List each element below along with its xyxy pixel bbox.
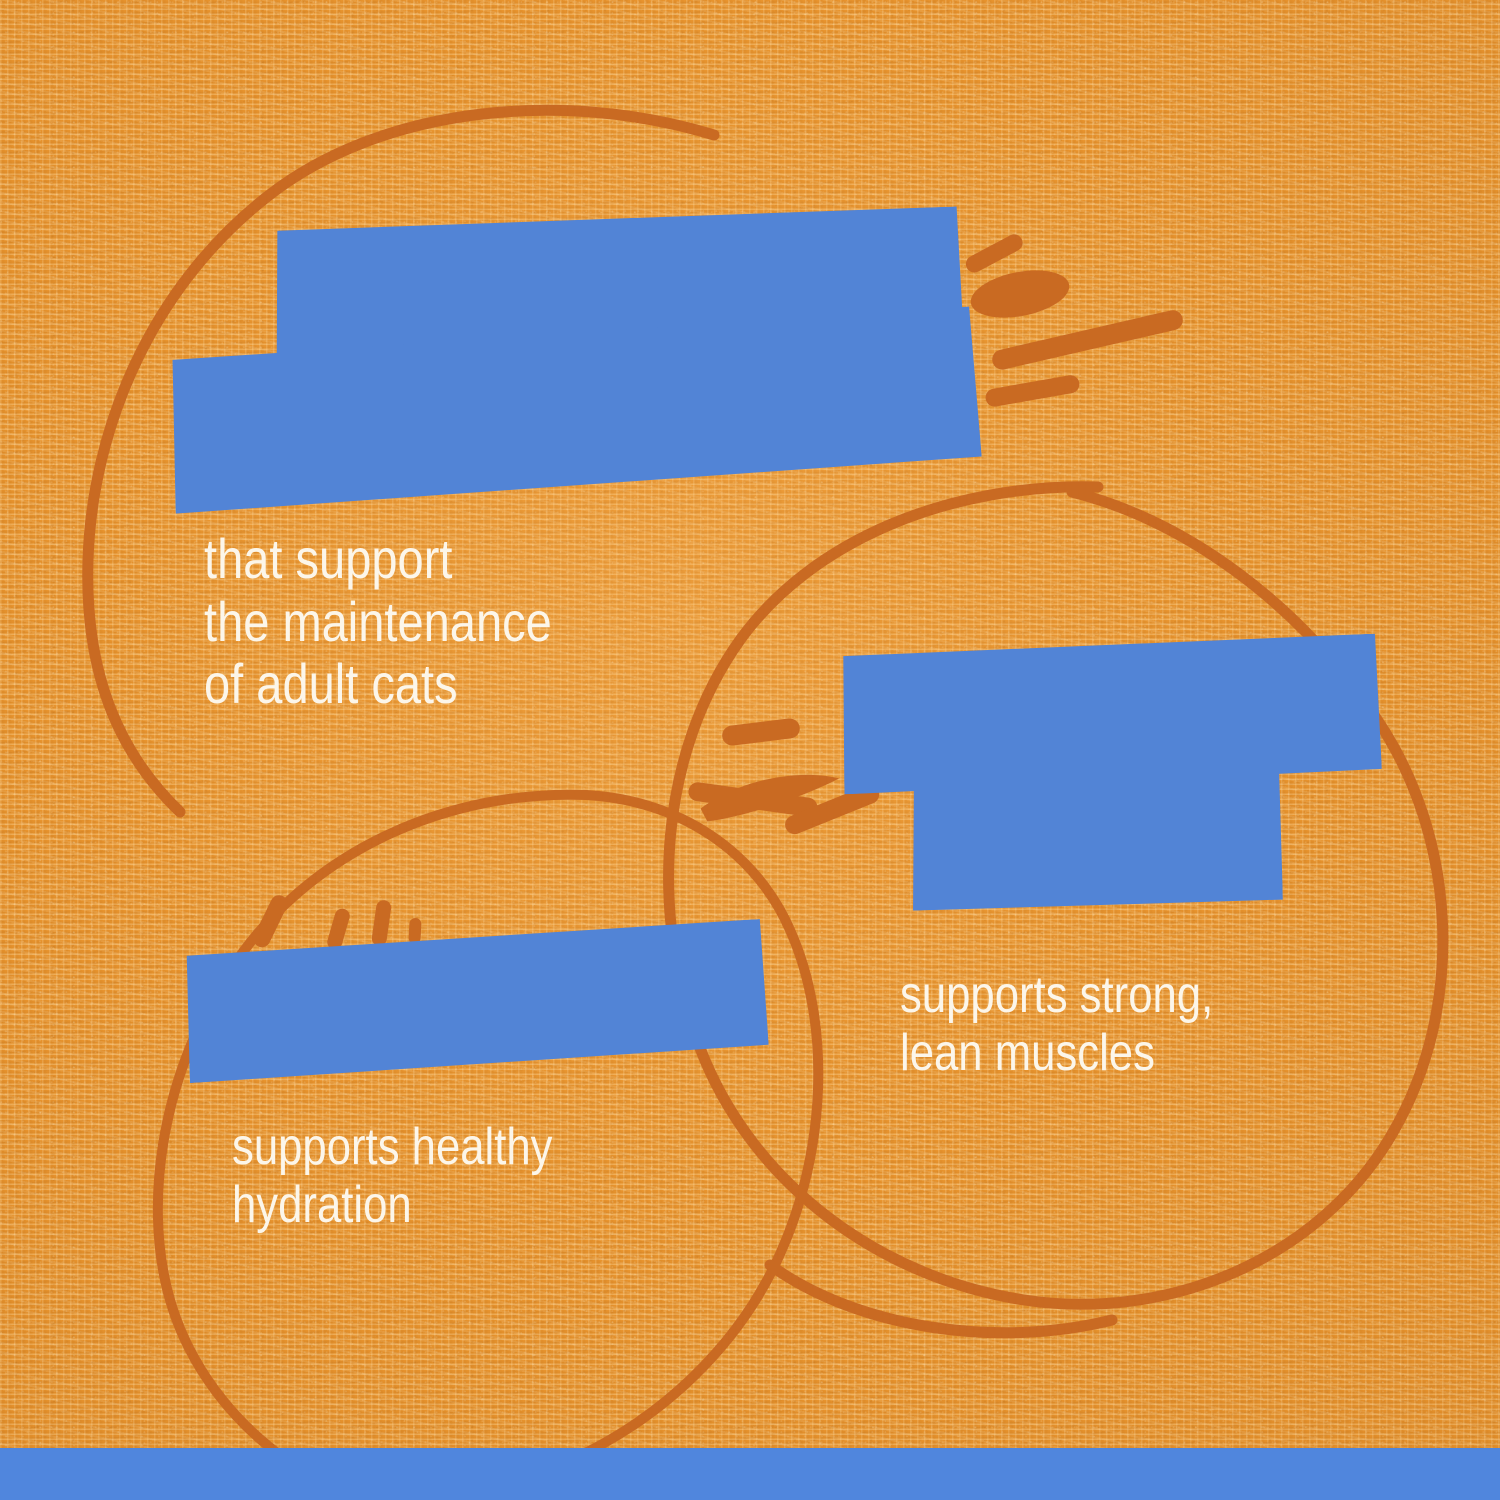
highlight-band-protein <box>911 759 1283 910</box>
body-high-quality-protein: supports strong, lean muscles <box>900 966 1213 1082</box>
bottom-accent-bar <box>0 1448 1500 1500</box>
product-feature-panel: includes all essential nutrients that su… <box>0 0 1500 1500</box>
body-essential-nutrients: that support the maintenance of adult ca… <box>204 528 552 716</box>
highlight-band-wet-formula <box>183 919 769 1083</box>
body-wet-formula: supports healthy hydration <box>232 1118 553 1234</box>
